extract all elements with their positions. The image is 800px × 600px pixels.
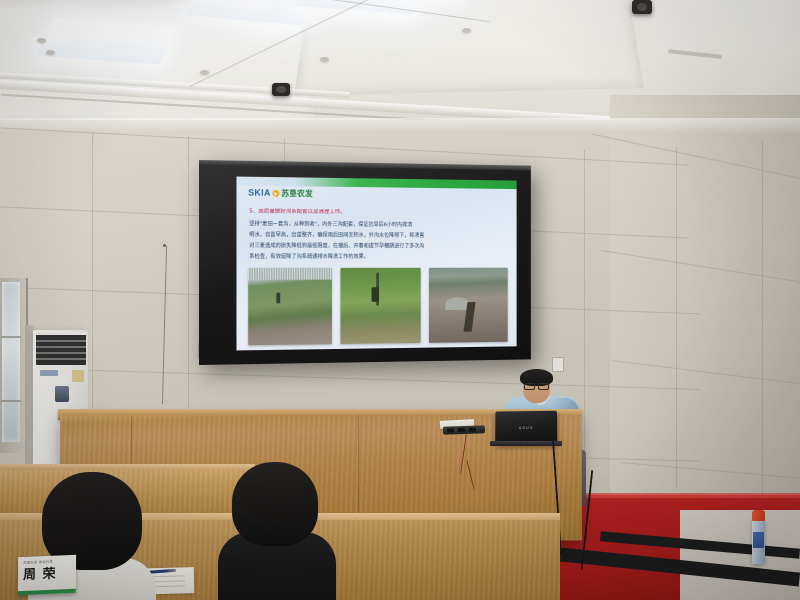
power-strip[interactable]	[443, 425, 485, 434]
ceiling-speaker	[272, 83, 290, 96]
right-wall	[610, 95, 800, 555]
laptop[interactable]: ASUS	[495, 411, 557, 444]
ac-air-grille	[36, 332, 86, 365]
ac-energy-label	[72, 370, 84, 382]
field-photo-worker-digging	[340, 268, 421, 344]
laptop-brand-label: ASUS	[518, 425, 533, 429]
slide-body-line-4: 系检查，有效促降了沟系疏通排水降渍工作的效果。	[249, 252, 505, 263]
logo-chinese-text: 苏垦农发	[281, 190, 313, 198]
audience-member-front-right	[218, 462, 336, 600]
conference-room-scene: SKIA 苏垦农发 5、高质量做好沟系配套以及清理工作。 坚持"麦田一套沟，从种…	[0, 0, 800, 600]
field-photo-ditch-closeup	[429, 268, 507, 343]
slide-logo: SKIA 苏垦农发	[248, 189, 313, 199]
ceiling-vent	[668, 49, 722, 59]
spray-can-label	[753, 532, 764, 548]
wall-cornice	[0, 118, 800, 134]
smoke-detector-4	[320, 57, 329, 62]
slide-accent-bar	[236, 177, 516, 190]
logo-brand-text: SKIA	[248, 189, 270, 198]
name-card-name: 周 荣	[23, 568, 57, 582]
eyeglasses-icon	[524, 383, 549, 388]
slide-photo-row	[248, 268, 508, 346]
slide-body-line-3: 对三麦造成的损失降低到最低限度，在播后、开春和拔节孕穗期进行了多次沟	[249, 241, 505, 252]
ac-control-panel[interactable]	[55, 386, 69, 402]
field-photo-drainage-ditch	[248, 268, 331, 345]
wire-anchor	[163, 244, 166, 247]
led-display-panel[interactable]: SKIA 苏垦农发 5、高质量做好沟系配套以及清理工作。 坚持"麦田一套沟，从种…	[199, 160, 531, 365]
audience-head	[232, 462, 318, 546]
slide-heading: 5、高质量做好沟系配套以及清理工作。	[249, 208, 503, 216]
smoke-detector-2	[46, 50, 55, 55]
ceiling-speaker-2	[632, 0, 652, 14]
smoke-detector	[37, 38, 46, 43]
smoke-detector-5	[462, 28, 471, 33]
slide-body-line-2: 明水，自苗早高，出苗整齐，确保雨后田间无积水，外沟水位降得下，将渍害	[249, 230, 505, 242]
spray-can-cap	[752, 510, 765, 521]
presentation-slide: SKIA 苏垦农发 5、高质量做好沟系配套以及清理工作。 坚持"麦田一套沟，从种…	[236, 177, 516, 351]
name-card-subtitle: 苏垦农发 参会代表	[23, 561, 53, 566]
play-circle-icon	[273, 190, 280, 197]
ac-brand-logo	[40, 370, 58, 376]
slide-body-text: 坚持"麦田一套沟，从种到收"，内外三沟配套，保证抗旱后6小时内排清 明水，自苗早…	[249, 219, 505, 263]
delegate-name-card: 苏垦农发 参会代表 周 荣	[18, 555, 76, 596]
smoke-detector-3	[200, 70, 209, 75]
left-window-glass	[2, 282, 20, 442]
